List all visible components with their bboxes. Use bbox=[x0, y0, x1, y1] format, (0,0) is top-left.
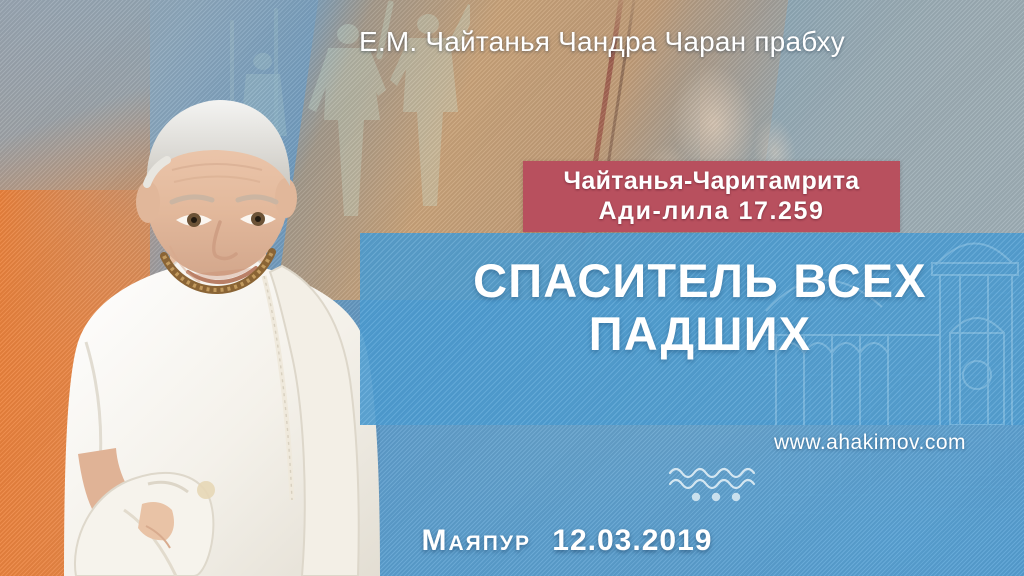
place-and-date: Маяпур 12.03.2019 bbox=[0, 524, 1024, 558]
wave-divider-ornament bbox=[666, 464, 766, 504]
speaker-name: Е.М. Чайтанья Чандра Чаран прабху bbox=[0, 26, 1024, 58]
slide-title: СПАСИТЕЛЬ ВСЕХ ПАДШИХ bbox=[420, 255, 980, 360]
slide-title-line-1: СПАСИТЕЛЬ ВСЕХ bbox=[420, 255, 980, 308]
slide-title-line-2: ПАДШИХ bbox=[420, 308, 980, 361]
scripture-verse: Ади-лила 17.259 bbox=[598, 197, 824, 227]
title-panel: СПАСИТЕЛЬ ВСЕХ ПАДШИХ bbox=[360, 233, 1024, 425]
date-label: 12.03.2019 bbox=[552, 524, 712, 557]
scripture-title: Чайтанья-Чаритамрита bbox=[564, 167, 860, 197]
scripture-reference-banner: Чайтанья-Чаритамрита Ади-лила 17.259 bbox=[523, 161, 900, 232]
place-label: Маяпур bbox=[422, 524, 531, 557]
lecture-title-slide: Е.М. Чайтанья Чандра Чаран прабху Чайтан… bbox=[0, 0, 1024, 576]
website-url[interactable]: www.ahakimov.com bbox=[0, 431, 966, 455]
